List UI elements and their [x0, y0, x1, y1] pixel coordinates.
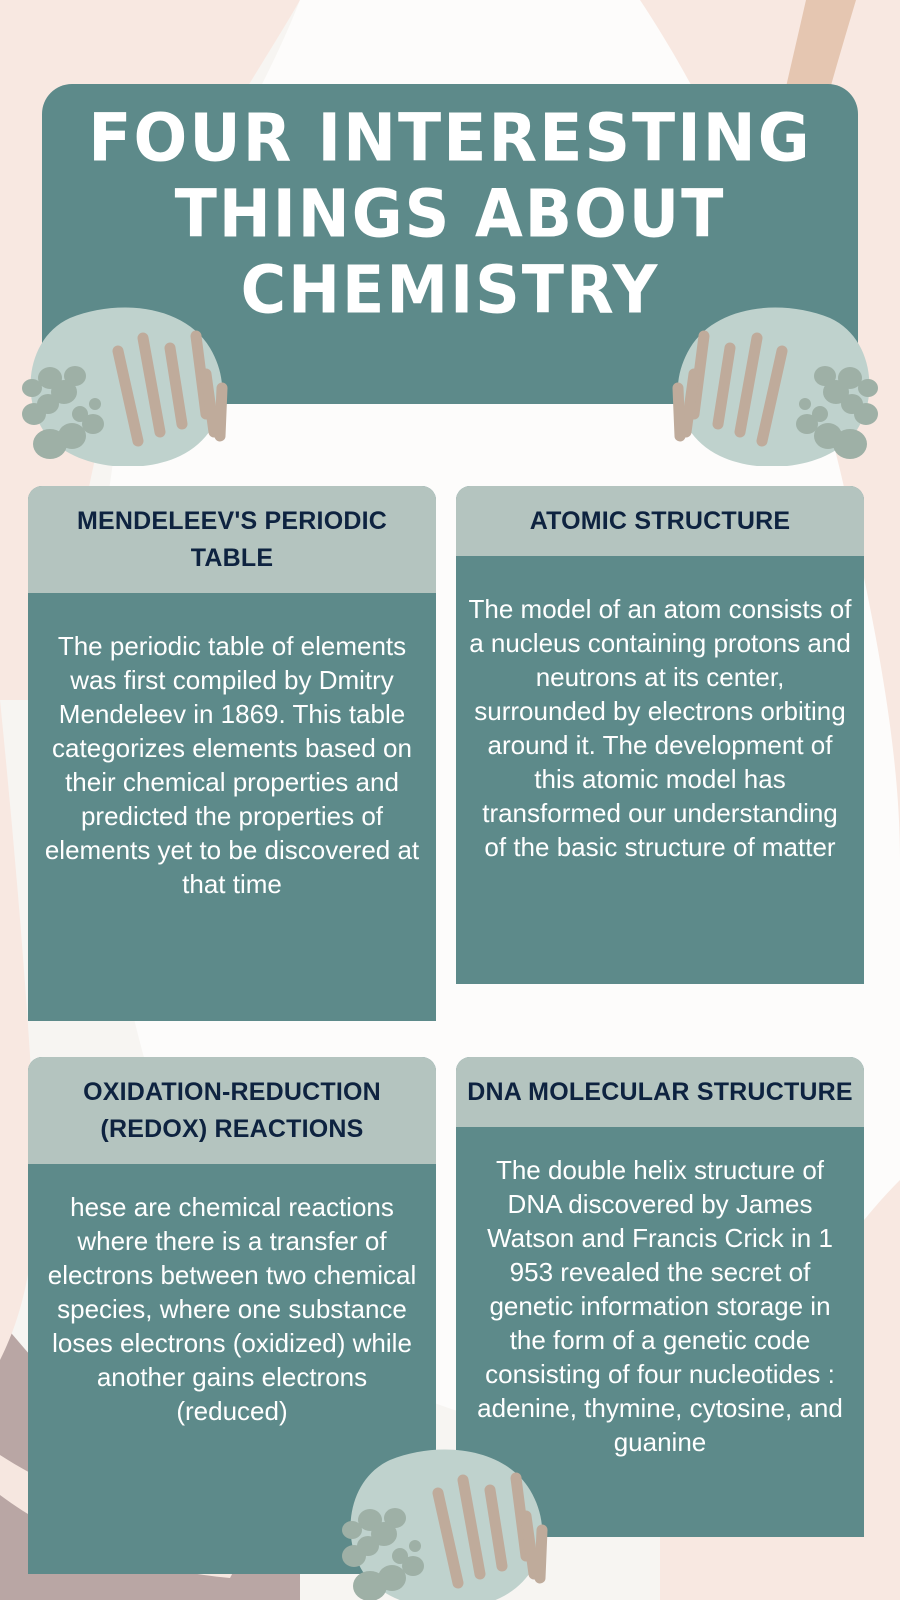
card-body-text: The model of an atom consists of a nucle… — [456, 556, 864, 984]
fact-card-grid: MENDELEEV'S PERIODIC TABLE The periodic … — [28, 486, 872, 1574]
card-body-text: The periodic table of elements was first… — [28, 593, 436, 1021]
title-line-3: CHEMISTRY — [42, 250, 858, 331]
card-header-title: OXIDATION-REDUCTION (REDOX) REACTIONS — [28, 1057, 436, 1164]
infographic-poster: MENDELEEV'S PERIODIC TABLE The periodic … — [0, 0, 900, 1600]
fact-card-atomic-structure[interactable]: ATOMIC STRUCTURE The model of an atom co… — [456, 486, 864, 984]
title-line-2: THINGS ABOUT — [42, 174, 858, 255]
card-row-top: MENDELEEV'S PERIODIC TABLE The periodic … — [28, 486, 872, 1021]
page-title: FOUR INTERESTING THINGS ABOUT CHEMISTRY — [42, 100, 858, 328]
card-header-title: ATOMIC STRUCTURE — [456, 486, 864, 556]
card-header-title: MENDELEEV'S PERIODIC TABLE — [28, 486, 436, 593]
leaf-cluster-bottom-decoration — [330, 1438, 580, 1600]
fact-card-mendeleev-periodic-table[interactable]: MENDELEEV'S PERIODIC TABLE The periodic … — [28, 486, 436, 1021]
card-header-title: DNA MOLECULAR STRUCTURE — [456, 1057, 864, 1127]
title-line-1: FOUR INTERESTING — [34, 98, 866, 179]
